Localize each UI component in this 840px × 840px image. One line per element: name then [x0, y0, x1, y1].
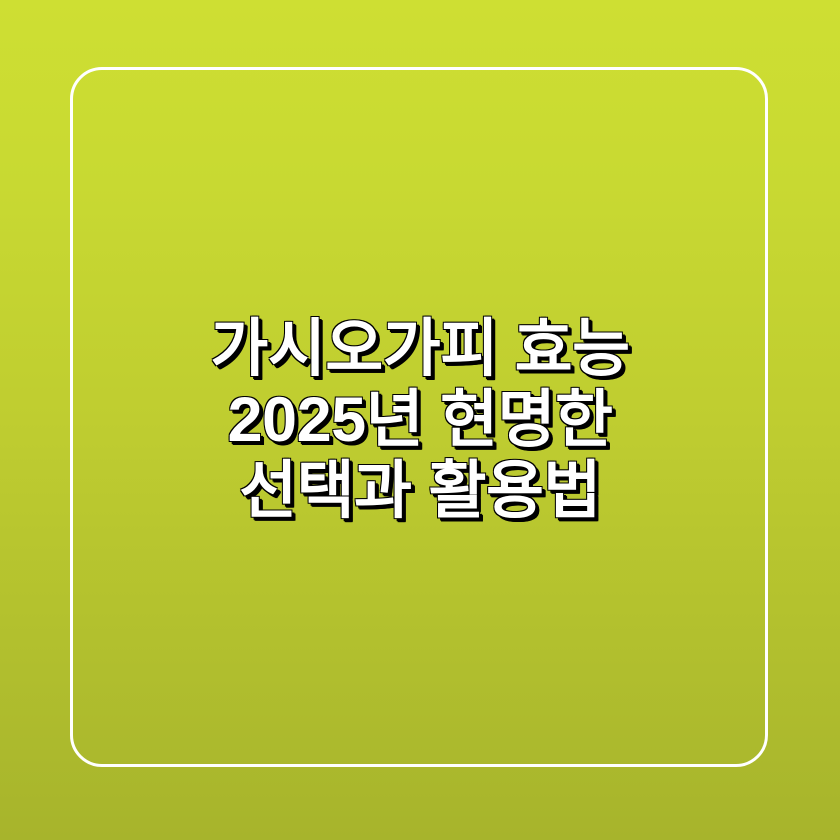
headline-line-1: 가시오가피 효능 [210, 314, 629, 385]
headline-line-3: 선택과 활용법 [239, 456, 601, 527]
thumbnail-card: 가시오가피 효능 2025년 현명한 선택과 활용법 [0, 0, 840, 840]
headline-block: 가시오가피 효능 2025년 현명한 선택과 활용법 [0, 0, 840, 840]
headline-line-2: 2025년 현명한 [228, 385, 613, 456]
